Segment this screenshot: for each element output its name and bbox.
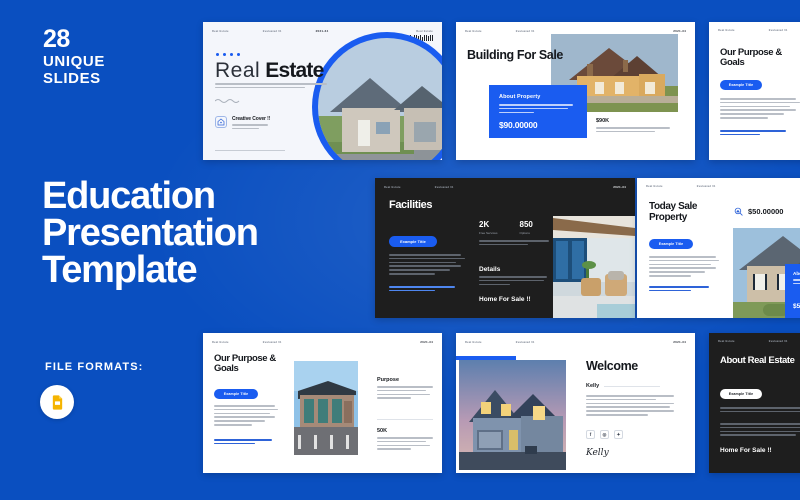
header-meta: Evaluated 01 [697,185,716,188]
slide-header: Real Estate Evaluated 01 [709,333,800,343]
stat-value: 850 [520,220,533,229]
signature: Kelly [586,448,609,458]
example-title-button[interactable]: Example Title [389,236,437,247]
header-meta: Evaluated 01 [435,186,454,189]
header-date: 2021-34 [673,29,686,33]
details-title: Details [479,266,500,273]
header-brand: Real Estate [384,186,401,189]
slide-header: Real Estate Evaluated 01 2021-34 [375,178,635,189]
slide-title: Real Estate [215,60,323,81]
slide-link-copy[interactable] [649,286,709,294]
slide-link-copy[interactable] [389,286,455,294]
slide-thumbnail-our-purpose-goals-narrow[interactable]: Real Estate Evaluated 01 Our Purpose & G… [709,22,800,160]
slide-title: Building For Sale [467,49,563,63]
slide-thumbnail-about-real-estate[interactable]: Real Estate Evaluated 01 About Real Esta… [709,333,800,473]
slide-body-copy-2 [720,423,800,438]
slide-title: Facilities [389,200,432,212]
interior-photo [553,216,635,318]
price-row: $50.00000 [734,207,783,216]
slide-title: About Real Estate [720,356,800,366]
stats-copy [479,240,549,248]
slide-body-copy [214,405,278,428]
block-title: Purpose [377,377,433,383]
about-property-card: About Property $50K [785,264,800,318]
slide-thumbnail-grid: Real Estate Evaluated 01 2021-34 Real Es… [0,0,800,500]
details-copy [479,276,547,287]
header-date: 2021-34 [316,29,329,33]
slide-header: Real Estate Evaluated 01 [637,178,800,188]
slide-body-copy [649,256,719,279]
card-title: About Property [793,271,800,276]
example-title-button[interactable]: Example Title [214,389,258,399]
slide-title-thin: Real [215,59,260,82]
slide-thumbnail-real-estate-cover[interactable]: Real Estate Evaluated 01 2021-34 Real Es… [203,22,442,160]
slide-header: Real Estate Evaluated 01 2021-34 [456,333,695,344]
stat-label: Options [520,231,533,235]
header-meta: Evaluated 01 [263,30,282,33]
block-copy [377,386,433,399]
block-copy [377,437,433,450]
slide-title: Our Purpose & Goals [720,48,800,69]
decorative-dots [216,53,240,56]
home-pin-icon [215,116,227,128]
creative-cover-card: Creative Cover !! [215,116,341,132]
slide-header: Real Estate Evaluated 01 [709,22,800,32]
about-property-card: About Property $90.00000 [489,85,587,138]
header-meta: Evaluated 01 [516,30,535,33]
cover-card-title: Creative Cover !! [232,116,270,122]
card-price: $50K [793,303,800,310]
example-title-button[interactable]: Example Title [720,389,762,399]
squiggle-icon [215,98,241,103]
twitter-icon[interactable]: ✦ [614,430,623,439]
slide-body-copy-1 [720,407,800,415]
stat-label: Free Services [479,231,498,235]
slide-header: Real Estate Evaluated 01 2021-34 [203,333,442,344]
header-date: 2021-34 [420,340,433,344]
header-brand: Real Estate [212,341,229,344]
slide-thumbnail-facilities[interactable]: Real Estate Evaluated 01 2021-34 Facilit… [375,178,635,318]
slide-thumbnail-building-for-sale[interactable]: Real Estate Evaluated 01 2021-34 Build [456,22,695,160]
header-date: 2021-34 [673,340,686,344]
side-value: $90K [596,118,670,124]
social-links[interactable]: f ◎ ✦ [586,430,623,439]
card-price: $90.00000 [499,120,537,130]
slide-subtitle-lines [215,83,327,91]
example-title-button[interactable]: Example Title [720,80,762,90]
slide-link-copy[interactable] [720,130,786,138]
card-title: About Property [499,94,577,100]
cover-card-copy [232,124,270,129]
author-name: Kelly [586,383,599,389]
example-title-button[interactable]: Example Title [649,239,693,249]
slide-body-copy [586,395,674,418]
slide-thumbnail-welcome[interactable]: Real Estate Evaluated 01 2021-34 [456,333,695,473]
purpose-block: Purpose [377,377,433,401]
side-value-block: $90K [596,118,670,135]
card-copy [793,279,800,284]
footer-rule [215,150,285,151]
card-copy [499,104,577,113]
header-brand: Real Estate [465,341,482,344]
header-brand: Real Estate [646,185,663,188]
header-meta: Evaluated 01 [516,341,535,344]
value-block: 50K [377,428,433,452]
footer-title: Home For Sale !! [479,296,531,303]
stat-item: 850 Options [520,220,533,235]
slide-thumbnail-our-purpose-goals-wide[interactable]: Real Estate Evaluated 01 2021-34 Our Pur… [203,333,442,473]
instagram-icon[interactable]: ◎ [600,430,609,439]
slide-header: Real Estate Evaluated 01 2021-34 [456,22,695,33]
block-title: 50K [377,428,433,434]
slide-thumbnail-today-sale-property[interactable]: Real Estate Evaluated 01 Today Sale Prop… [637,178,800,318]
header-meta: Evaluated 01 [769,340,788,343]
slide-title: Today Sale Property [649,202,727,224]
header-brand: Real Estate [718,29,735,32]
stat-item: 2K Free Services [479,220,498,235]
side-copy [596,127,670,132]
header-meta: Evaluated 01 [769,29,788,32]
footer-title: Home For Sale !! [720,447,772,454]
slide-title: Our Purpose & Goals [214,354,300,375]
author-rule [604,386,660,387]
header-meta: Evaluated 01 [263,341,282,344]
price-value: $50.00000 [748,207,783,216]
slide-header: Real Estate Evaluated 01 2021-34 Real Es… [203,22,442,33]
header-brand: Real Estate [212,30,229,33]
house-evening-photo [459,360,566,470]
slide-title: Welcome [586,360,638,374]
office-building-photo [294,361,358,455]
slide-link-copy[interactable] [214,439,272,447]
header-brand: Real Estate [465,30,482,33]
slide-body-copy [389,254,465,277]
block-divider [377,419,433,420]
facebook-icon[interactable]: f [586,430,595,439]
search-home-icon [734,207,743,216]
header-brand-right: Real Estate [416,30,433,33]
header-date: 2021-34 [613,185,626,189]
slide-title-bold: Estate [265,59,323,82]
slide-body-copy [720,98,800,121]
stat-value: 2K [479,220,498,229]
header-brand: Real Estate [718,340,735,343]
